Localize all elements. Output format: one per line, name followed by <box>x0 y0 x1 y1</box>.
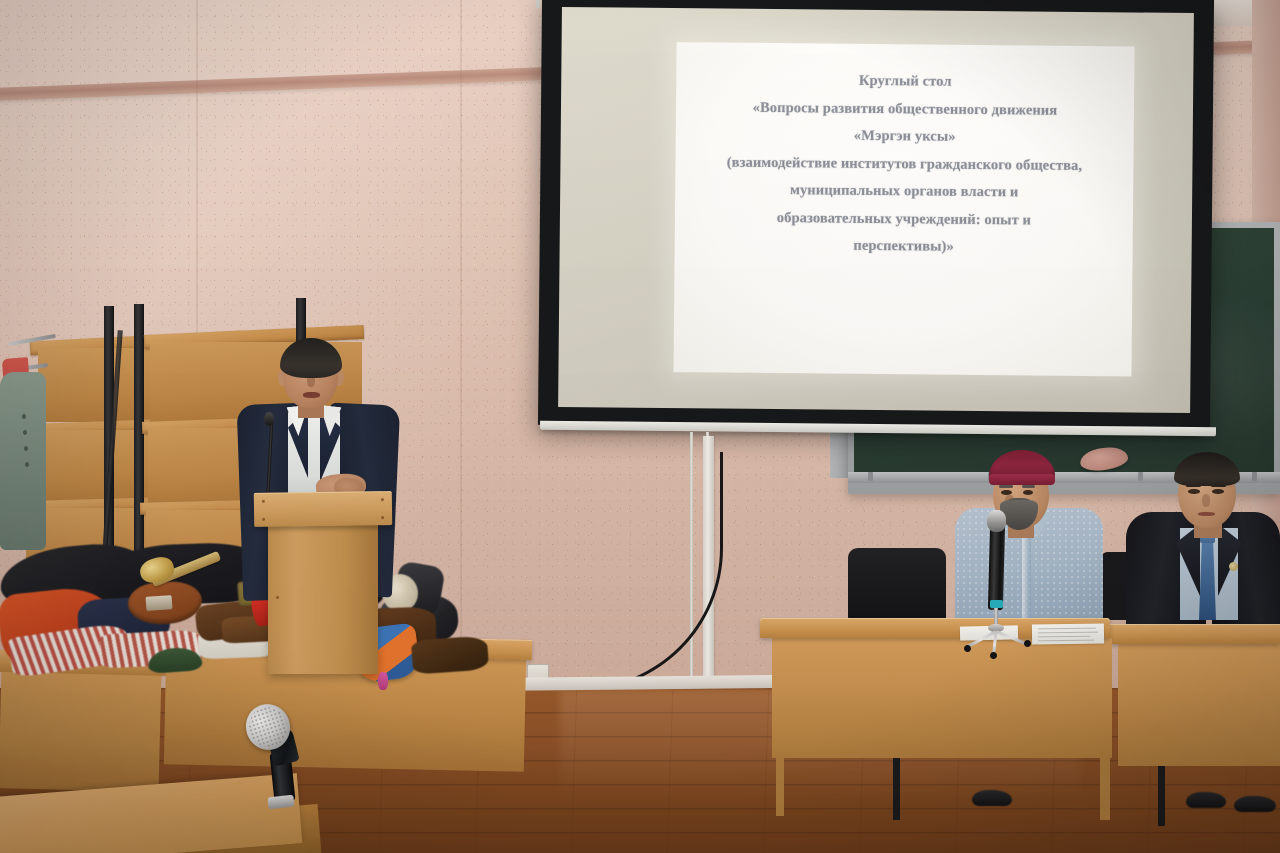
bag-tassel <box>378 672 388 690</box>
left-desk-front <box>0 668 161 792</box>
projected-slide: Круглый стол «Вопросы развития обществен… <box>673 42 1134 376</box>
tripod-foot <box>1024 640 1031 647</box>
garment-button <box>23 430 27 435</box>
speaker-mouth <box>303 392 320 398</box>
table-leg <box>776 758 784 816</box>
panel-table-2-front <box>1118 644 1280 766</box>
panelist-left-brow <box>999 485 1013 488</box>
tripod-foot <box>964 645 971 652</box>
panelist-right-nose <box>1202 494 1210 507</box>
ledge-clip <box>1138 472 1143 481</box>
microphone-switch[interactable] <box>990 600 1003 608</box>
garment-button <box>24 446 28 451</box>
panelist-left-brow <box>1022 485 1035 488</box>
paper-text-line <box>1038 632 1098 634</box>
podium-screw <box>381 498 384 501</box>
desk-microphone-body[interactable] <box>988 524 1005 610</box>
photo-scene: Круглый стол «Вопросы развития обществен… <box>0 0 1280 853</box>
screen-housing <box>536 0 540 8</box>
empty-chair[interactable] <box>848 548 946 620</box>
panel-table-front <box>772 638 1112 758</box>
leather-pouch <box>411 635 489 674</box>
podium-screw <box>262 518 265 521</box>
tripod-foot <box>990 652 997 659</box>
panel-table-2-top <box>1108 624 1280 644</box>
projection-screen[interactable]: Круглый стол «Вопросы развития обществен… <box>538 0 1214 431</box>
paper-document[interactable] <box>1032 623 1104 644</box>
garment-button <box>22 414 26 419</box>
panelist-right-eye <box>1212 489 1224 494</box>
panelist-right-eye <box>1188 489 1200 494</box>
table-leg <box>1158 764 1165 826</box>
table-leg <box>893 756 900 820</box>
podium-top-panel[interactable] <box>254 491 392 527</box>
table-leg <box>1100 758 1110 820</box>
garment-button <box>25 462 29 467</box>
shoe <box>972 790 1012 806</box>
podium-screw <box>262 500 265 503</box>
ledge-clip <box>868 472 873 481</box>
podium-body <box>268 524 378 674</box>
slide-line-2: «Вопросы развития общественного движения <box>692 100 1118 119</box>
shoe <box>1186 792 1226 808</box>
panelist-right-mouth <box>1198 512 1215 516</box>
paper-text-line <box>1038 640 1094 642</box>
shoe <box>1234 796 1276 812</box>
paper-text-line <box>1038 636 1090 638</box>
screen-surface: Круглый стол «Вопросы развития обществен… <box>558 7 1194 413</box>
desk-microphone-head <box>987 510 1006 532</box>
podium-screw <box>381 516 384 519</box>
skullcap-band <box>989 474 1055 485</box>
slide-line-7: перспективы)» <box>691 237 1117 256</box>
panelist-left-eye <box>1023 490 1033 495</box>
lapel-pin-icon <box>1229 562 1238 571</box>
slide-line-4: (взаимодействие институтов гражданского … <box>691 155 1117 174</box>
ledge-clip <box>1252 472 1257 481</box>
paper-text-line <box>1038 628 1096 630</box>
instrument-plate <box>146 595 173 611</box>
podium-screw <box>276 596 279 599</box>
podium-microphone-head <box>264 412 274 426</box>
slide-text-block: Круглый стол «Вопросы развития обществен… <box>691 72 1119 256</box>
